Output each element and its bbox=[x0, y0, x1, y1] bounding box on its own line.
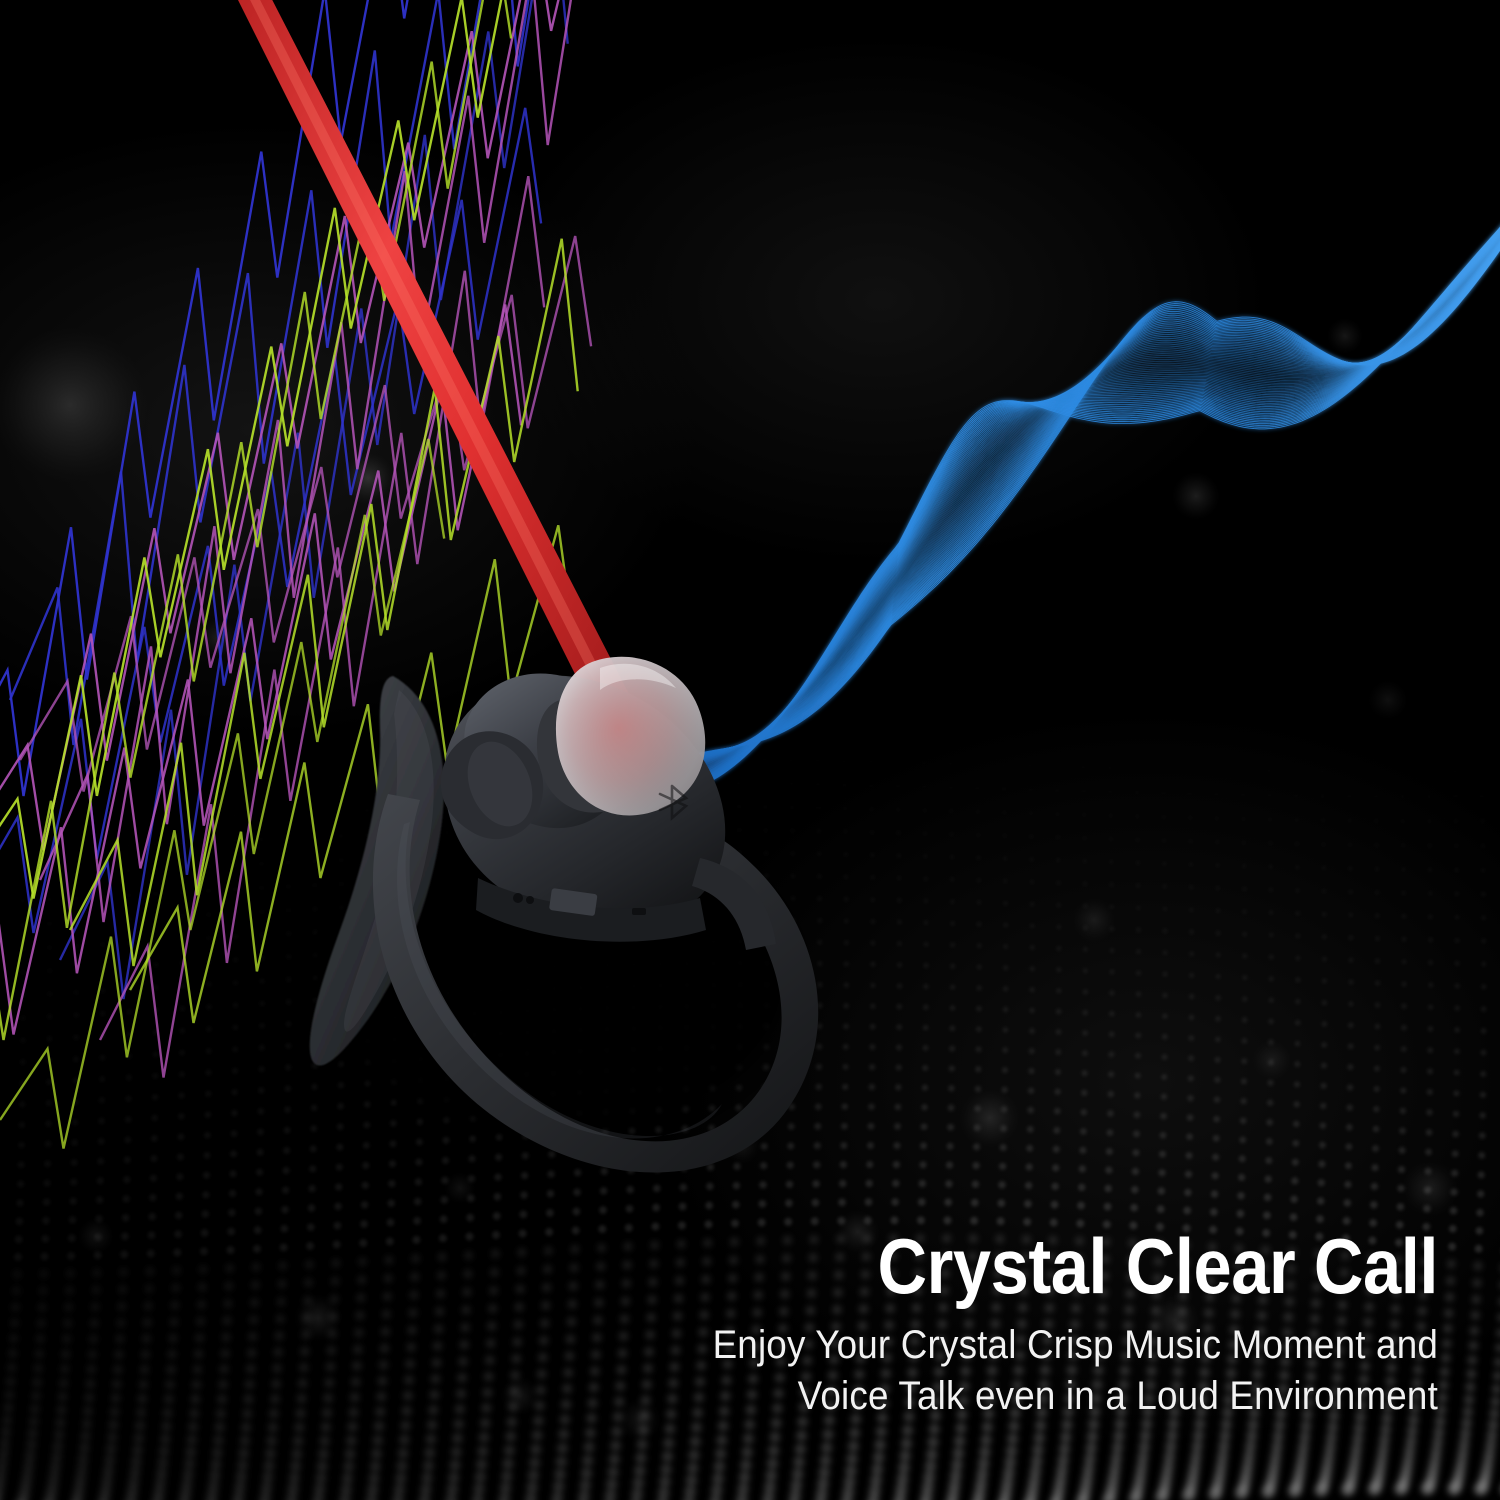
subtitle-line-1: Enjoy Your Crystal Crisp Music Moment an… bbox=[647, 1320, 1438, 1371]
subtitle-line-2: Voice Talk even in a Loud Environment bbox=[647, 1371, 1438, 1422]
red-cable bbox=[228, 0, 632, 716]
product-banner: Crystal Clear Call Enjoy Your Crystal Cr… bbox=[0, 0, 1500, 1500]
page-title: Crystal Clear Call bbox=[681, 1229, 1438, 1304]
microphone-hole bbox=[513, 893, 523, 903]
marketing-copy: Crystal Clear Call Enjoy Your Crystal Cr… bbox=[578, 1229, 1438, 1422]
silicone-eartip bbox=[556, 657, 705, 816]
